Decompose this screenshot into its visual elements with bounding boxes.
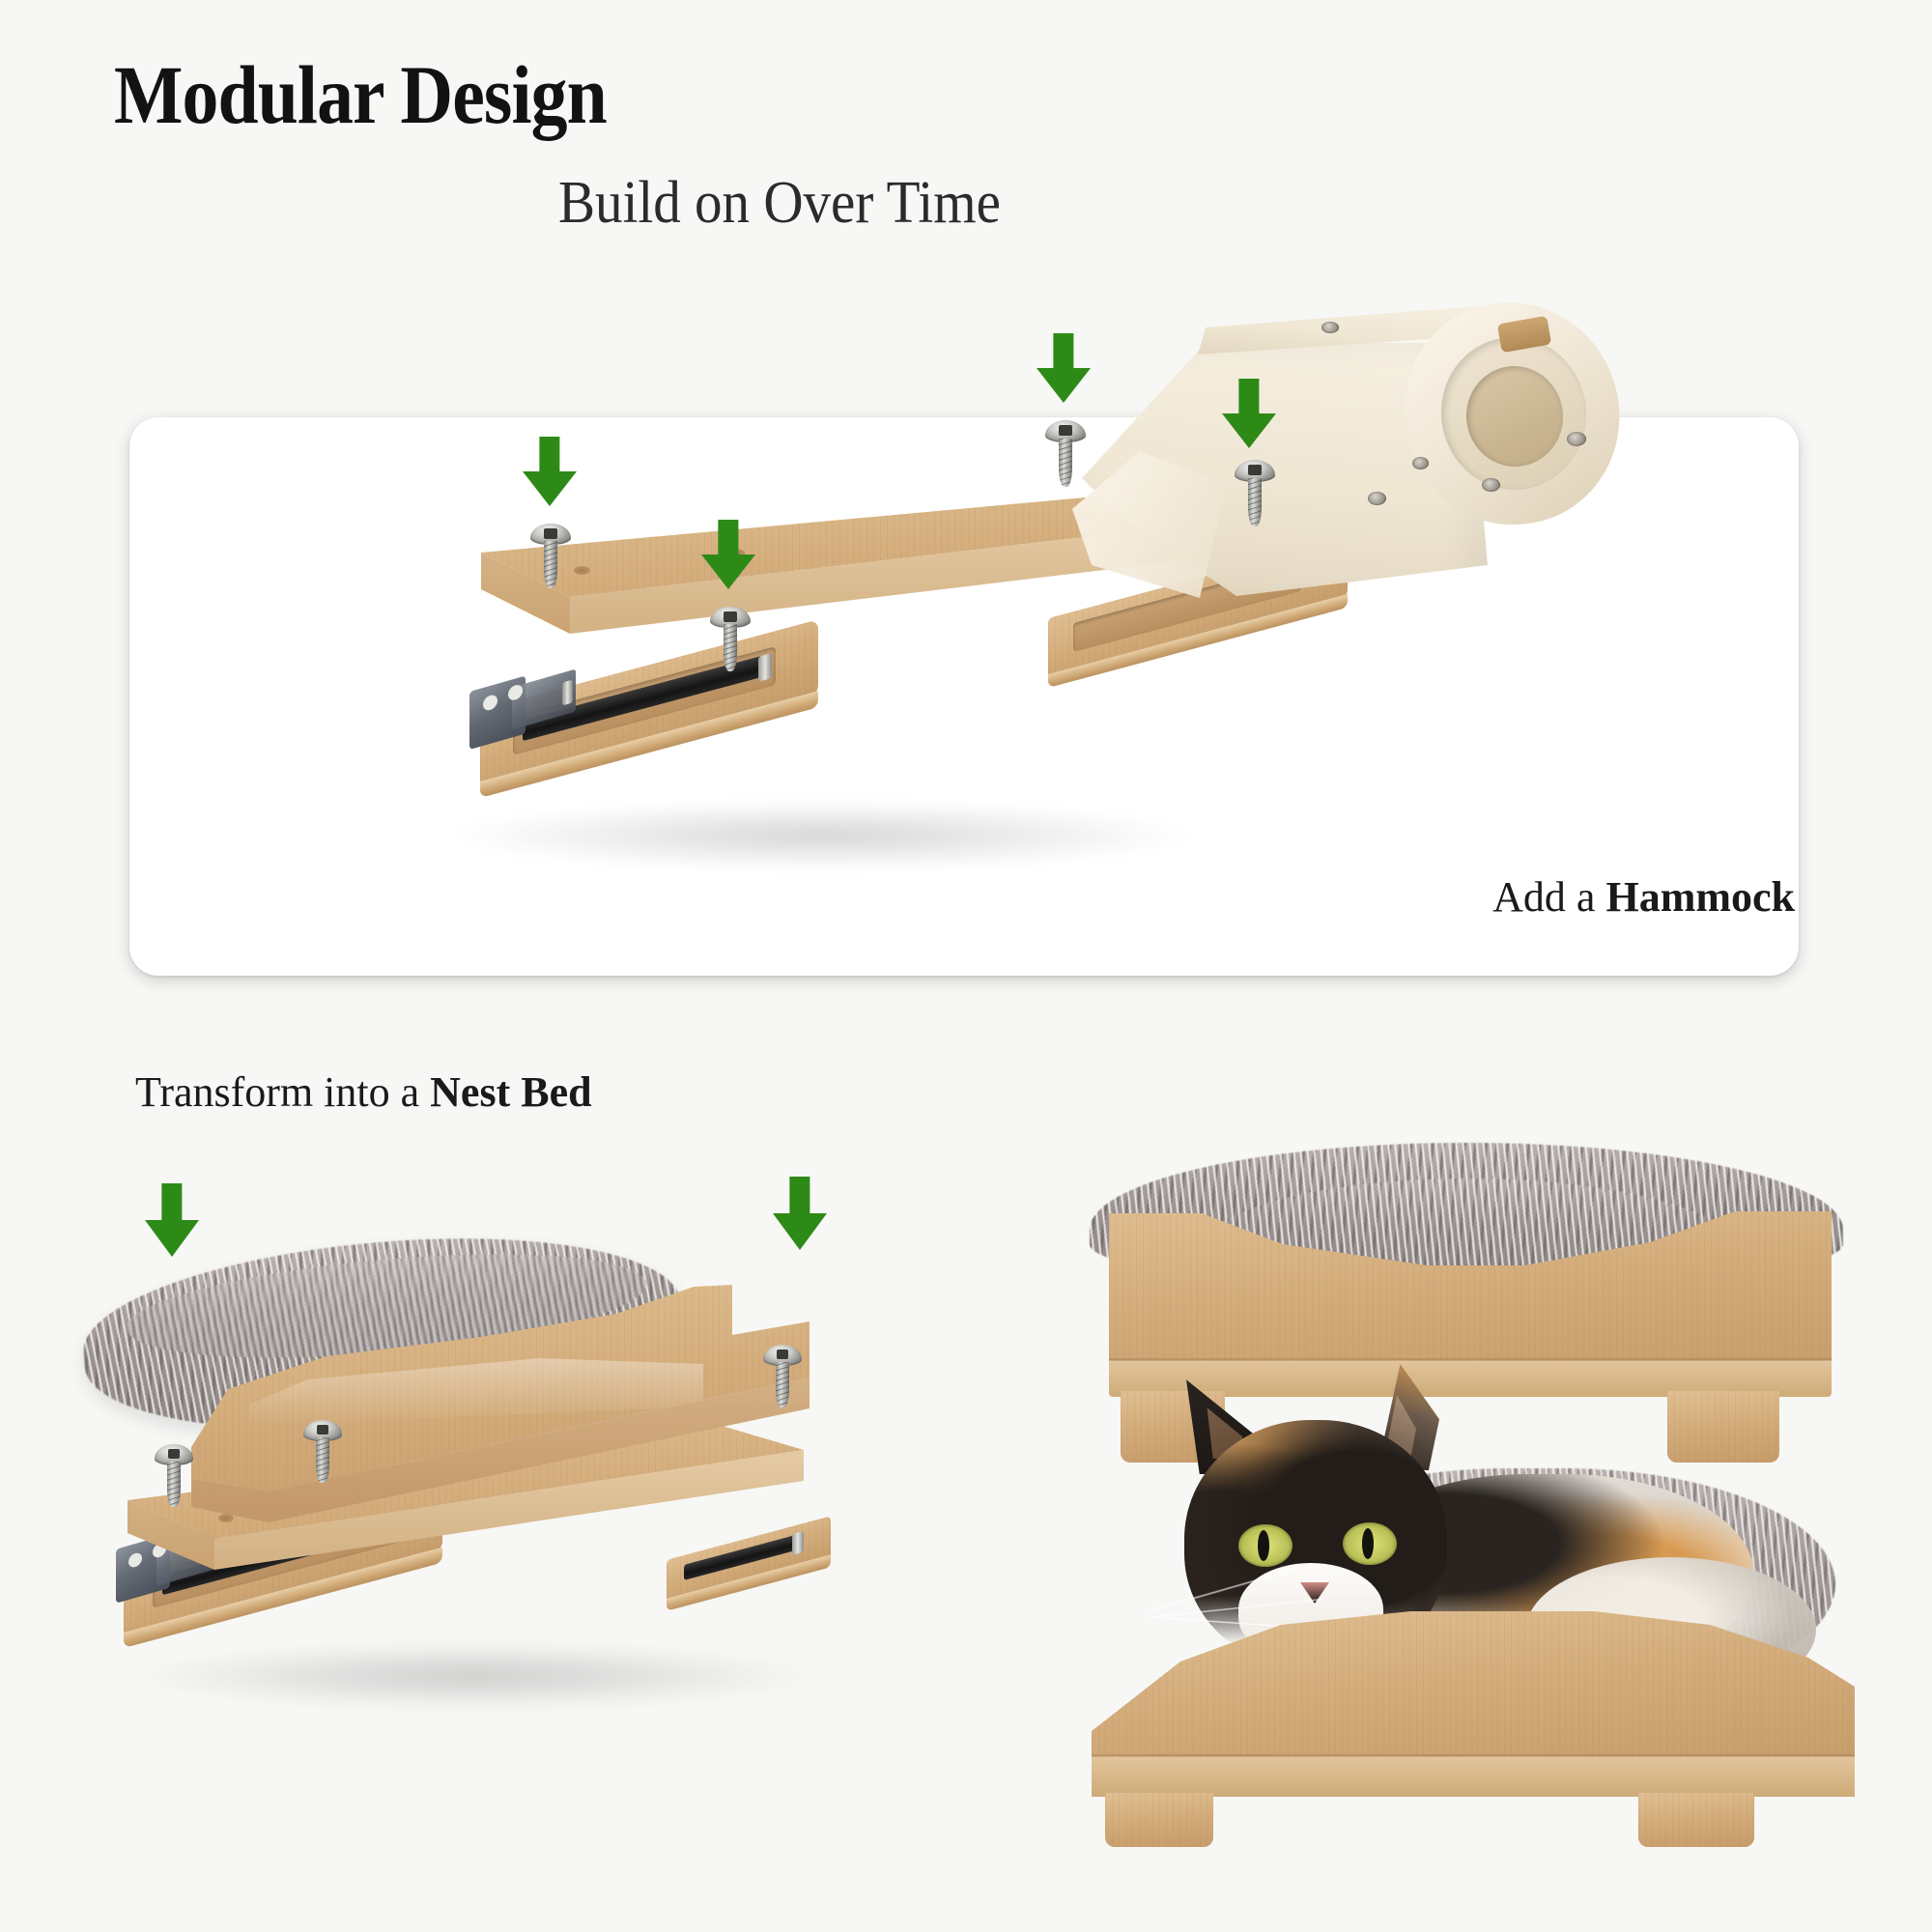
cat-pupil-right	[1362, 1528, 1374, 1559]
screw-icon	[763, 1345, 802, 1406]
down-arrow-icon	[1037, 333, 1091, 403]
grommet	[1412, 457, 1429, 469]
down-arrow-icon	[773, 1177, 827, 1250]
grommet	[1567, 432, 1586, 446]
screw-icon	[303, 1420, 342, 1482]
cat-pupil-left	[1258, 1530, 1269, 1561]
grommet	[1482, 478, 1500, 492]
nest-caption-light: Transform into a	[135, 1068, 430, 1116]
nest-foot-right	[1638, 1793, 1754, 1847]
down-arrow-icon	[145, 1183, 199, 1257]
screw-icon	[1045, 420, 1086, 486]
page-subtitle: Build on Over Time	[558, 169, 1001, 238]
shelf-shadow	[454, 802, 1188, 869]
nest-bed-caption: Transform into a Nest Bed	[135, 1067, 592, 1117]
grommet	[1321, 322, 1339, 333]
hammock-caption-light: Add a	[1492, 873, 1605, 921]
page-title: Modular Design	[114, 46, 607, 143]
screw-icon	[155, 1444, 193, 1506]
assembled-nest-bed-front	[1092, 1604, 1855, 1845]
grommet	[1368, 492, 1386, 505]
hammock-caption-bold: Hammock	[1605, 873, 1795, 921]
hammock-caption: Add a Hammock	[1492, 872, 1795, 922]
canvas-hammock	[1082, 343, 1642, 633]
screw-icon	[710, 607, 751, 670]
hammock-roll	[1406, 302, 1648, 549]
nest-curved-wall	[191, 1285, 810, 1536]
nest-caption-bold: Nest Bed	[430, 1068, 591, 1116]
infographic-root: Modular Design Build on Over Time	[0, 0, 1932, 1932]
screw-icon	[1235, 460, 1275, 526]
screw-icon	[530, 524, 571, 587]
nest-shadow	[135, 1642, 811, 1710]
down-arrow-icon	[1222, 379, 1276, 448]
down-arrow-icon	[701, 520, 755, 589]
down-arrow-icon	[523, 437, 577, 506]
nest-foot-left	[1105, 1793, 1213, 1847]
